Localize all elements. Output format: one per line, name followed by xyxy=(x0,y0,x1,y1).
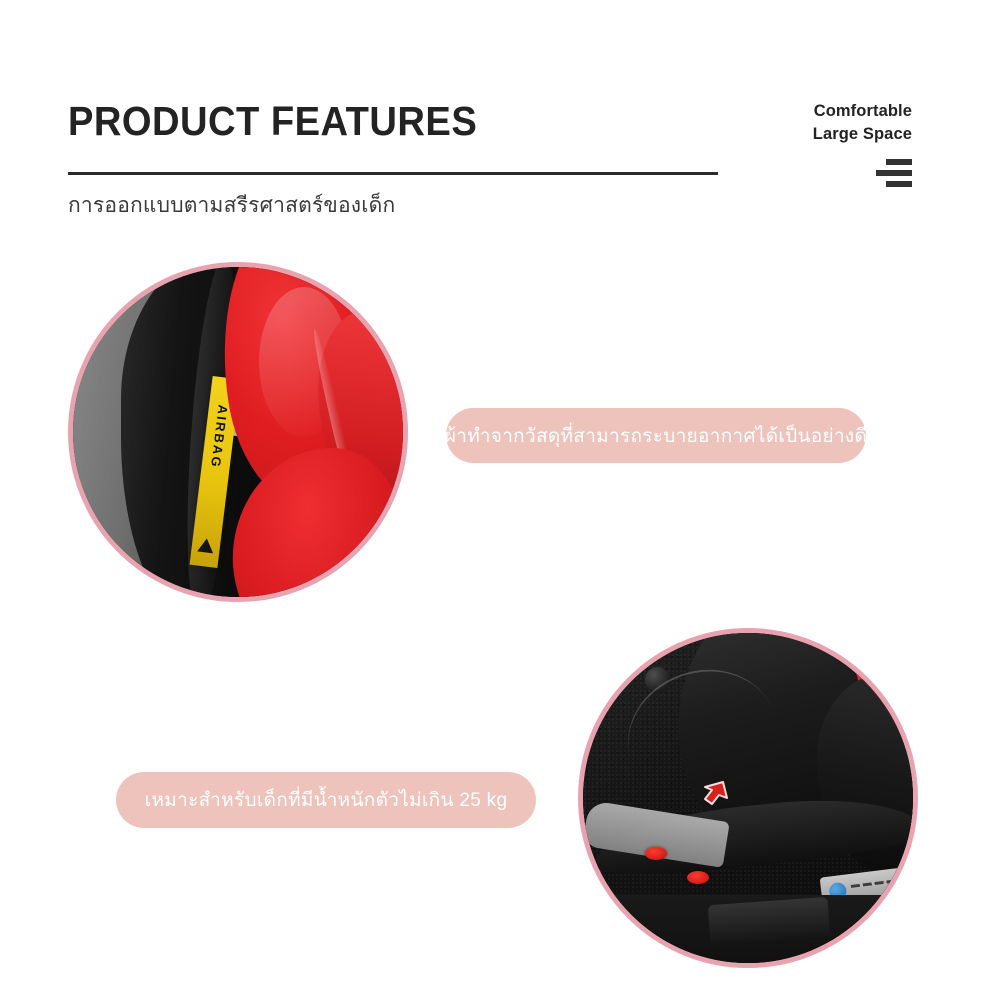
bar-bottom xyxy=(886,181,912,187)
sticker-microtext xyxy=(851,877,913,888)
feature-caption-breathable: ผ้าทำจากวัสดุที่สามารถระบายอากาศได้เป็นอ… xyxy=(446,408,866,463)
corner-tagline: Comfortable Large Space xyxy=(692,100,912,187)
three-bars-icon xyxy=(692,159,912,187)
airbag-label-text: AIRBAG xyxy=(208,404,231,470)
red-arrow-indicator-icon xyxy=(697,777,731,811)
header-divider xyxy=(68,172,718,175)
page-subtitle: การออกแบบตามสรีรศาสตร์ของเด็ก xyxy=(68,189,395,222)
feature-caption-weight: เหมาะสำหรับเด็กที่มีน้ำหนักตัวไม่เกิน 25… xyxy=(116,772,536,828)
feature-photo-base xyxy=(578,628,918,968)
corner-tagline-line1: Comfortable xyxy=(692,100,912,123)
product-features-page: PRODUCT FEATURES การออกแบบตามสรีรศาสตร์ข… xyxy=(0,0,1000,1000)
fabric-photo-content: AIRBAG xyxy=(73,267,403,597)
base-photo-content xyxy=(583,633,913,963)
warning-triangle-icon xyxy=(197,538,215,554)
page-title: PRODUCT FEATURES xyxy=(68,98,477,145)
corner-tagline-line2: Large Space xyxy=(692,123,912,146)
release-button-1 xyxy=(645,847,667,860)
release-button-2 xyxy=(687,871,709,884)
bar-top xyxy=(886,159,912,165)
base-foot xyxy=(708,897,830,945)
feature-photo-fabric: AIRBAG xyxy=(68,262,408,602)
bar-middle xyxy=(876,170,912,176)
